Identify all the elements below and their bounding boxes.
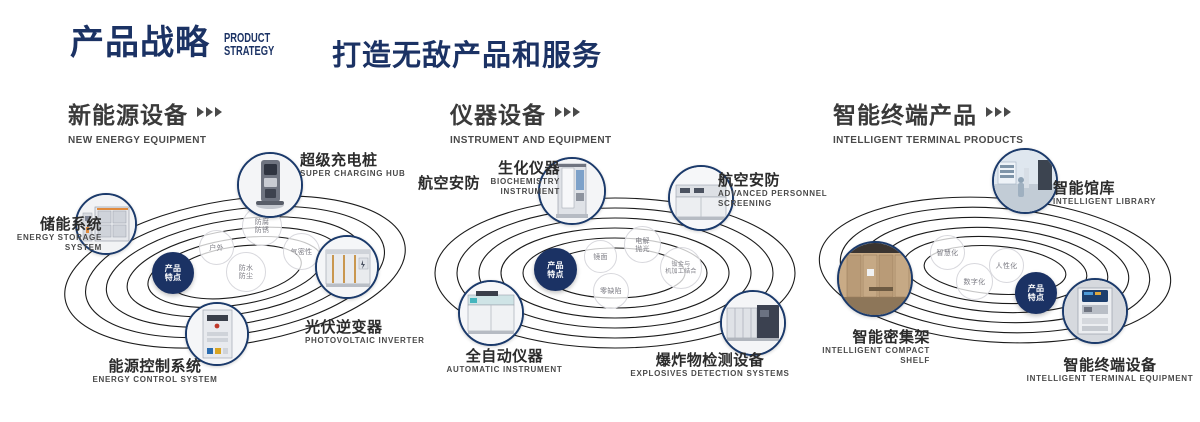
label-energy-control-system: 能源控制系统 ENERGY CONTROL SYSTEM <box>75 358 235 385</box>
label-en: EXPLOSIVES DETECTION SYSTEMS <box>620 369 800 379</box>
automatic-instrument-image <box>460 282 522 344</box>
photovoltaic-inverter-image <box>317 237 377 297</box>
label-cn: 航空安防 <box>718 172 827 189</box>
intelligent-library-image <box>994 150 1056 212</box>
label-cn: 生化仪器 <box>450 160 560 177</box>
node-automatic-instrument[interactable] <box>458 280 524 346</box>
feature-bubble: 防水 防尘 <box>226 252 266 292</box>
intelligent-terminal-equipment-image <box>1064 280 1126 342</box>
label-explosives-detection-systems: 爆炸物检测设备 EXPLOSIVES DETECTION SYSTEMS <box>620 352 800 379</box>
label-super-charging-hub: 超级充电桩 SUPER CHARGING HUB <box>300 152 406 179</box>
chevron-right-icon <box>986 107 1011 117</box>
label-cn: 爆炸物检测设备 <box>620 352 800 369</box>
label-biochemistry-instrument: 生化仪器 BIOCHEMISTRY INSTRUMENT <box>450 160 560 197</box>
cluster-instrument-and-equipment: 产品 特点 镜面 电解 抛光 钣金与 机加工结合 零缺陷 <box>430 185 800 360</box>
chevron-right-icon <box>197 107 222 117</box>
feature-bubble: 人性化 <box>989 248 1024 283</box>
section-title-en: NEW ENERGY EQUIPMENT <box>68 135 222 146</box>
node-photovoltaic-inverter[interactable] <box>315 235 379 299</box>
label-en: ADVANCED PERSONNEL SCREENING <box>718 189 827 209</box>
chevron-right-icon <box>555 107 580 117</box>
section-title-en: INSTRUMENT AND EQUIPMENT <box>450 135 611 146</box>
section-heading-instrument: 仪器设备 INSTRUMENT AND EQUIPMENT <box>450 96 611 146</box>
label-en: PHOTOVOLTAIC INVERTER <box>305 336 425 346</box>
page-title-cn: 产品战略 <box>70 26 210 60</box>
label-automatic-instrument: 全自动仪器 AUTOMATIC INSTRUMENT <box>432 348 577 375</box>
label-intelligent-terminal-equipment: 智能终端设备 INTELLIGENT TERMINAL EQUIPMENT <box>1020 357 1200 384</box>
page-title: 产品战略 PRODUCT STRATEGY <box>70 26 294 60</box>
intelligent-compact-shelf-image <box>839 243 911 315</box>
label-cn: 光伏逆变器 <box>305 319 425 336</box>
label-energy-storage-system: 储能系统 ENERGY STORAGE SYSTEM <box>0 216 102 253</box>
feature-bubble: 数字化 <box>956 263 993 300</box>
section-title-cn: 仪器设备 <box>450 96 546 130</box>
node-intelligent-compact-shelf[interactable] <box>837 241 913 317</box>
label-en: INTELLIGENT TERMINAL EQUIPMENT <box>1020 374 1200 384</box>
page-title-en: PRODUCT STRATEGY <box>224 31 274 57</box>
label-cn: 智能馆库 <box>1053 180 1156 197</box>
slogan: 打造无敌产品和服务 <box>332 32 602 74</box>
feature-bubble: 电解 抛光 <box>624 226 661 263</box>
label-en: INTELLIGENT LIBRARY <box>1053 197 1156 207</box>
feature-core-bubble: 产品 特点 <box>1015 272 1057 314</box>
label-cn: 能源控制系统 <box>75 358 235 375</box>
label-intelligent-library: 智能馆库 INTELLIGENT LIBRARY <box>1053 180 1156 207</box>
super-charging-hub-image <box>239 154 301 216</box>
feature-bubble: 智慧化 <box>930 235 965 270</box>
section-title-en: INTELLIGENT TERMINAL PRODUCTS <box>833 135 1023 146</box>
node-super-charging-hub[interactable] <box>237 152 303 218</box>
label-cn: 超级充电桩 <box>300 152 406 169</box>
label-advanced-personnel-screening: 航空安防 ADVANCED PERSONNEL SCREENING <box>718 172 827 209</box>
label-cn: 储能系统 <box>0 216 102 233</box>
feature-bubble: 钣金与 机加工结合 <box>660 247 702 289</box>
feature-bubble: 零缺陷 <box>593 273 629 309</box>
section-heading-new-energy: 新能源设备 NEW ENERGY EQUIPMENT <box>68 96 222 146</box>
label-en: AUTOMATIC INSTRUMENT <box>432 365 577 375</box>
label-en: INTELLIGENT COMPACT SHELF <box>795 346 930 366</box>
label-en: SUPER CHARGING HUB <box>300 169 406 179</box>
label-cn: 全自动仪器 <box>432 348 577 365</box>
label-en: ENERGY STORAGE SYSTEM <box>0 233 102 253</box>
node-intelligent-terminal-equipment[interactable] <box>1062 278 1128 344</box>
feature-core-bubble: 产品 特点 <box>152 252 194 294</box>
node-intelligent-library[interactable] <box>992 148 1058 214</box>
label-en: BIOCHEMISTRY INSTRUMENT <box>450 177 560 197</box>
product-strategy-infographic: 产品战略 PRODUCT STRATEGY 打造无敌产品和服务 新能源设备 NE… <box>0 0 1200 422</box>
label-en: ENERGY CONTROL SYSTEM <box>75 375 235 385</box>
section-title-cn: 新能源设备 <box>68 96 188 130</box>
section-title-cn: 智能终端产品 <box>833 96 977 130</box>
label-photovoltaic-inverter: 光伏逆变器 PHOTOVOLTAIC INVERTER <box>305 319 425 346</box>
energy-control-system-image <box>187 304 247 364</box>
explosives-detection-systems-image <box>722 292 784 354</box>
label-cn: 智能密集架 <box>795 329 930 346</box>
node-explosives-detection-systems[interactable] <box>720 290 786 356</box>
label-cn: 智能终端设备 <box>1020 357 1200 374</box>
label-intelligent-compact-shelf: 智能密集架 INTELLIGENT COMPACT SHELF <box>795 329 930 366</box>
feature-bubble: 镜面 <box>584 240 617 273</box>
section-heading-intelligent-terminal: 智能终端产品 INTELLIGENT TERMINAL PRODUCTS <box>833 96 1023 146</box>
feature-core-bubble: 产品 特点 <box>534 248 577 291</box>
